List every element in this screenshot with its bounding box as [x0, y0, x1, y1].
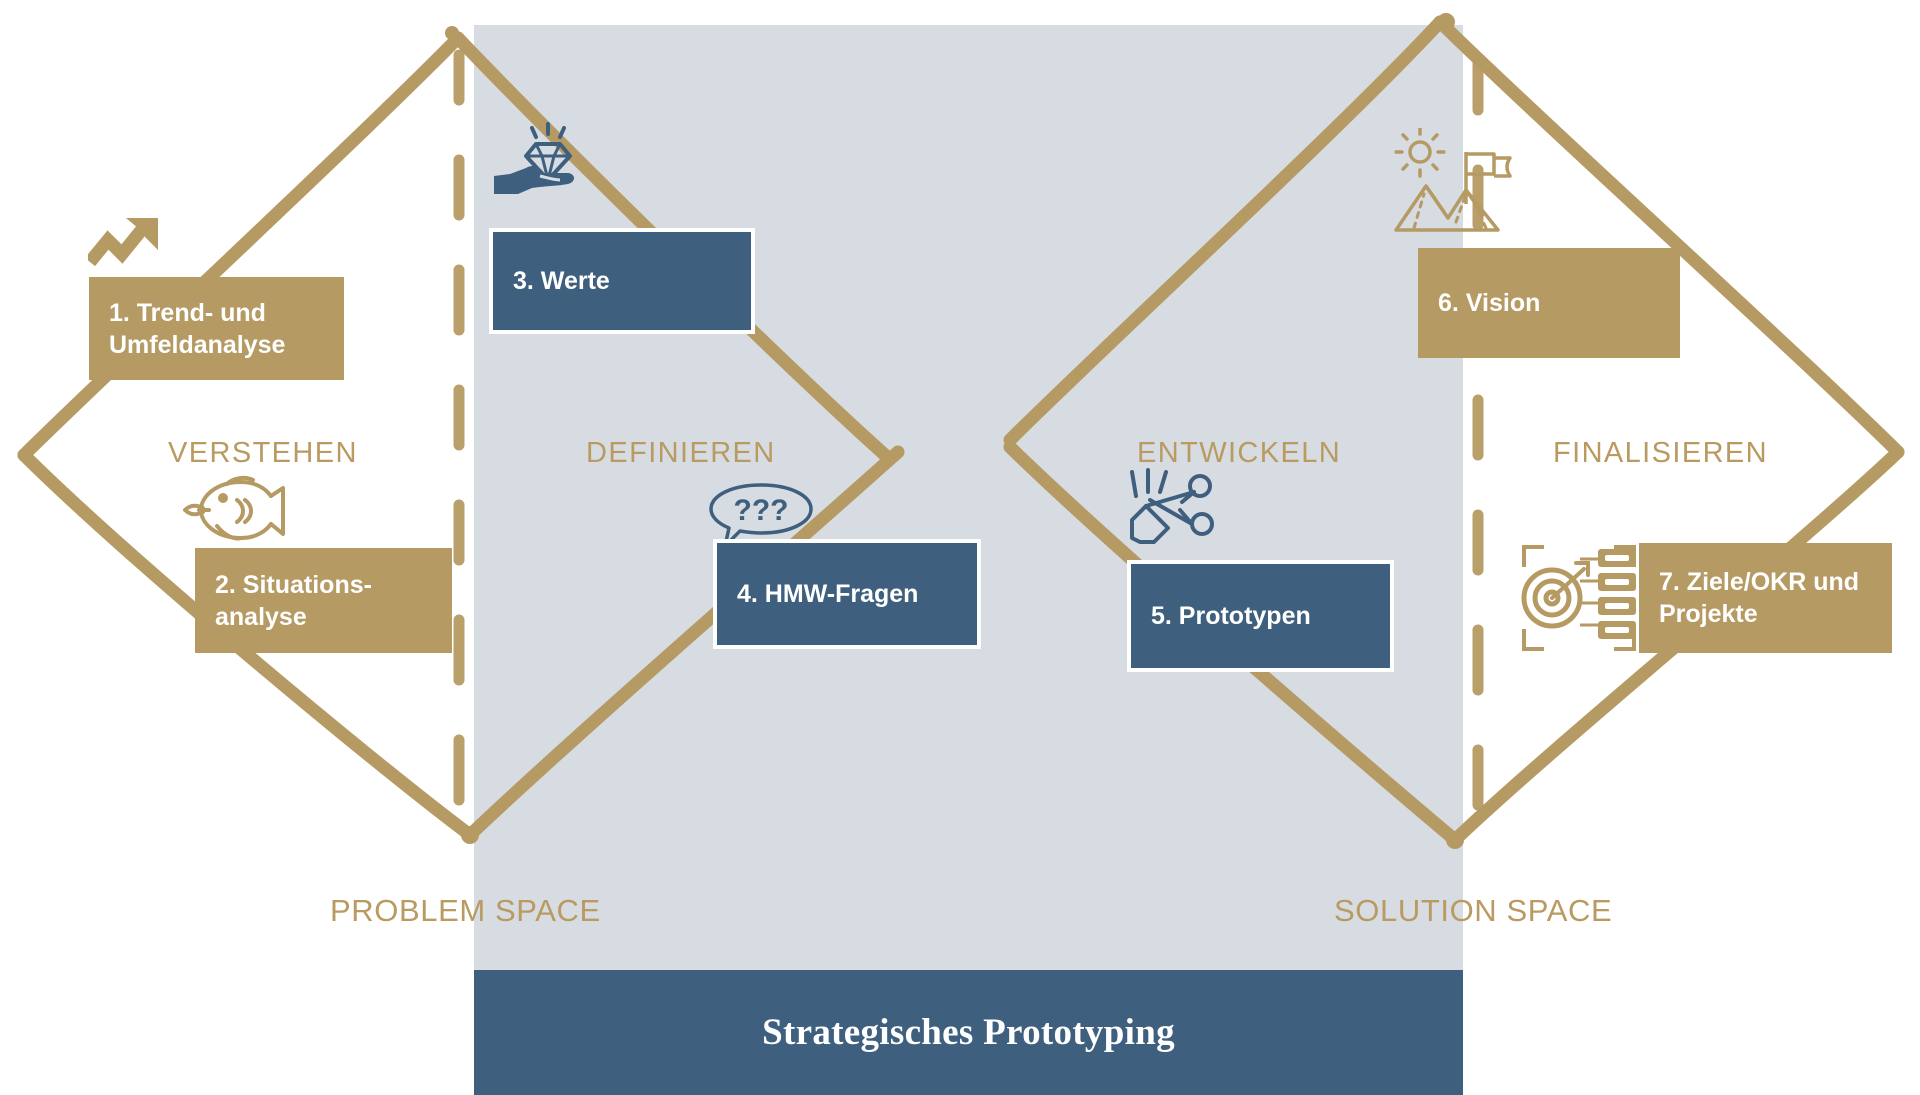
step-box-4[interactable]: 4. HMW-Fragen: [713, 539, 981, 649]
phase-label-definieren: DEFINIEREN: [586, 437, 776, 470]
phase-label-finalisieren: FINALISIEREN: [1553, 437, 1768, 470]
step-box-1[interactable]: 1. Trend- und Umfeldanalyse: [89, 277, 344, 380]
fish-icon: [183, 474, 287, 546]
step-box-6[interactable]: 6. Vision: [1418, 248, 1680, 358]
step-box-2[interactable]: 2. Situations-analyse: [195, 548, 452, 653]
phase-label-verstehen: VERSTEHEN: [168, 437, 358, 470]
mountain-flag-sun-icon: [1394, 128, 1520, 234]
bottom-banner: Strategisches Prototyping: [474, 970, 1463, 1095]
step-box-7[interactable]: 7. Ziele/OKR und Projekte: [1639, 543, 1892, 653]
diamond-in-hand-icon: [492, 118, 588, 198]
bottom-banner-label: Strategisches Prototyping: [762, 1011, 1175, 1054]
scissors-paper-icon: [1128, 466, 1220, 546]
diagram-canvas: VERSTEHEN DEFINIEREN ENTWICKELN FINALISI…: [0, 0, 1920, 1095]
space-label-problem: PROBLEM SPACE: [330, 893, 601, 929]
target-checklist-icon: [1518, 543, 1640, 653]
trend-arrow-icon: [88, 214, 174, 276]
speech-bubble-text: ???: [734, 494, 789, 527]
step-box-5[interactable]: 5. Prototypen: [1127, 560, 1394, 672]
step-box-3[interactable]: 3. Werte: [489, 228, 755, 334]
space-label-solution: SOLUTION SPACE: [1334, 893, 1612, 929]
